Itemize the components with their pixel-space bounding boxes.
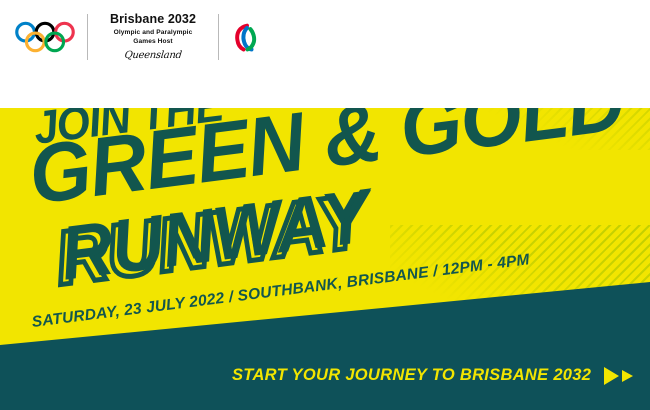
host-city-subtitle-line2: Games Host bbox=[99, 38, 207, 47]
paralympic-agitos-icon bbox=[230, 22, 264, 52]
logo-row: Brisbane 2032 Olympic and Paralympic Gam… bbox=[14, 9, 264, 65]
logo-divider-right bbox=[218, 14, 219, 60]
play-arrow-icon bbox=[604, 367, 619, 385]
play-arrow-small-icon bbox=[622, 370, 633, 382]
host-city-block: Brisbane 2032 Olympic and Paralympic Gam… bbox=[99, 13, 207, 60]
header-band: Brisbane 2032 Olympic and Paralympic Gam… bbox=[0, 0, 650, 108]
cta-label: START YOUR JOURNEY TO BRISBANE 2032 bbox=[232, 366, 591, 385]
olympic-rings-icon bbox=[14, 20, 76, 54]
host-city-subtitle-line1: Olympic and Paralympic bbox=[99, 29, 207, 38]
cta-link[interactable]: START YOUR JOURNEY TO BRISBANE 2032 bbox=[232, 366, 633, 385]
promotional-banner: JOIN THE GREEN & GOLD RUNWAY RUNWAY SATU… bbox=[0, 0, 650, 410]
host-city-title: Brisbane 2032 bbox=[99, 13, 207, 26]
queensland-script-wordmark: Queensland bbox=[98, 51, 207, 61]
logo-divider-left bbox=[87, 14, 88, 60]
cta-arrows bbox=[604, 367, 633, 385]
